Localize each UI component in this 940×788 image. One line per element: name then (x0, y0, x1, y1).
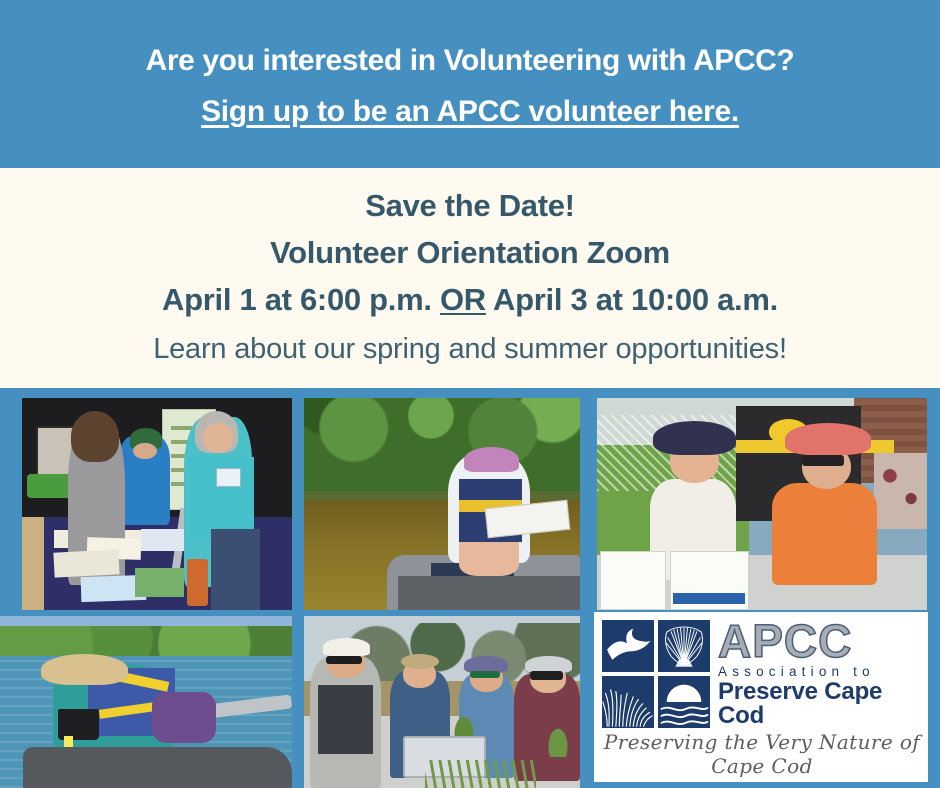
photo-water-sampling-image (0, 616, 292, 788)
photo-canoe-logging (304, 398, 580, 610)
event-date-second: April 3 at 10:00 a.m. (486, 282, 778, 317)
logo-tagline: Preserving the Very Nature of Cape Cod (602, 730, 922, 778)
apcc-volunteer-flyer: Are you interested in Volunteering with … (0, 0, 940, 788)
scallop-shell-icon (658, 620, 710, 672)
photo-smiling-volunteers-image (597, 398, 927, 610)
photo-smiling-volunteers (597, 398, 927, 610)
photo-tabling-event-image (22, 398, 292, 610)
logo-association-line: Association to (718, 664, 922, 679)
save-the-date-heading: Save the Date! (365, 190, 574, 221)
seagull-icon (602, 620, 654, 672)
photo-collage: APCC Association to Preserve Cape Cod Pr… (0, 388, 940, 788)
photo-water-sampling (0, 616, 292, 788)
photo-marsh-planting-image (304, 616, 580, 788)
header-banner: Are you interested in Volunteering with … (0, 0, 940, 168)
event-title: Volunteer Orientation Zoom (270, 237, 670, 268)
header-question: Are you interested in Volunteering with … (146, 42, 795, 80)
logo-acronym: APCC (718, 620, 922, 662)
marsh-grass-icon (602, 676, 654, 728)
event-date-separator: OR (440, 282, 486, 317)
opportunities-subtext: Learn about our spring and summer opport… (153, 335, 787, 364)
photo-marsh-planting (304, 616, 580, 788)
volunteer-signup-link[interactable]: Sign up to be an APCC volunteer here. (201, 93, 739, 131)
photo-tabling-event (22, 398, 292, 610)
sunset-water-icon (658, 676, 710, 728)
photo-canoe-logging-image (304, 398, 580, 610)
logo-organization-name: Preserve Cape Cod (718, 680, 922, 728)
logo-mark-grid (602, 620, 710, 728)
apcc-logo: APCC Association to Preserve Cape Cod Pr… (594, 612, 928, 782)
announcement-section: Save the Date! Volunteer Orientation Zoo… (0, 168, 940, 388)
event-dates: April 1 at 6:00 p.m. OR April 3 at 10:00… (162, 284, 778, 315)
event-date-first: April 1 at 6:00 p.m. (162, 282, 440, 317)
